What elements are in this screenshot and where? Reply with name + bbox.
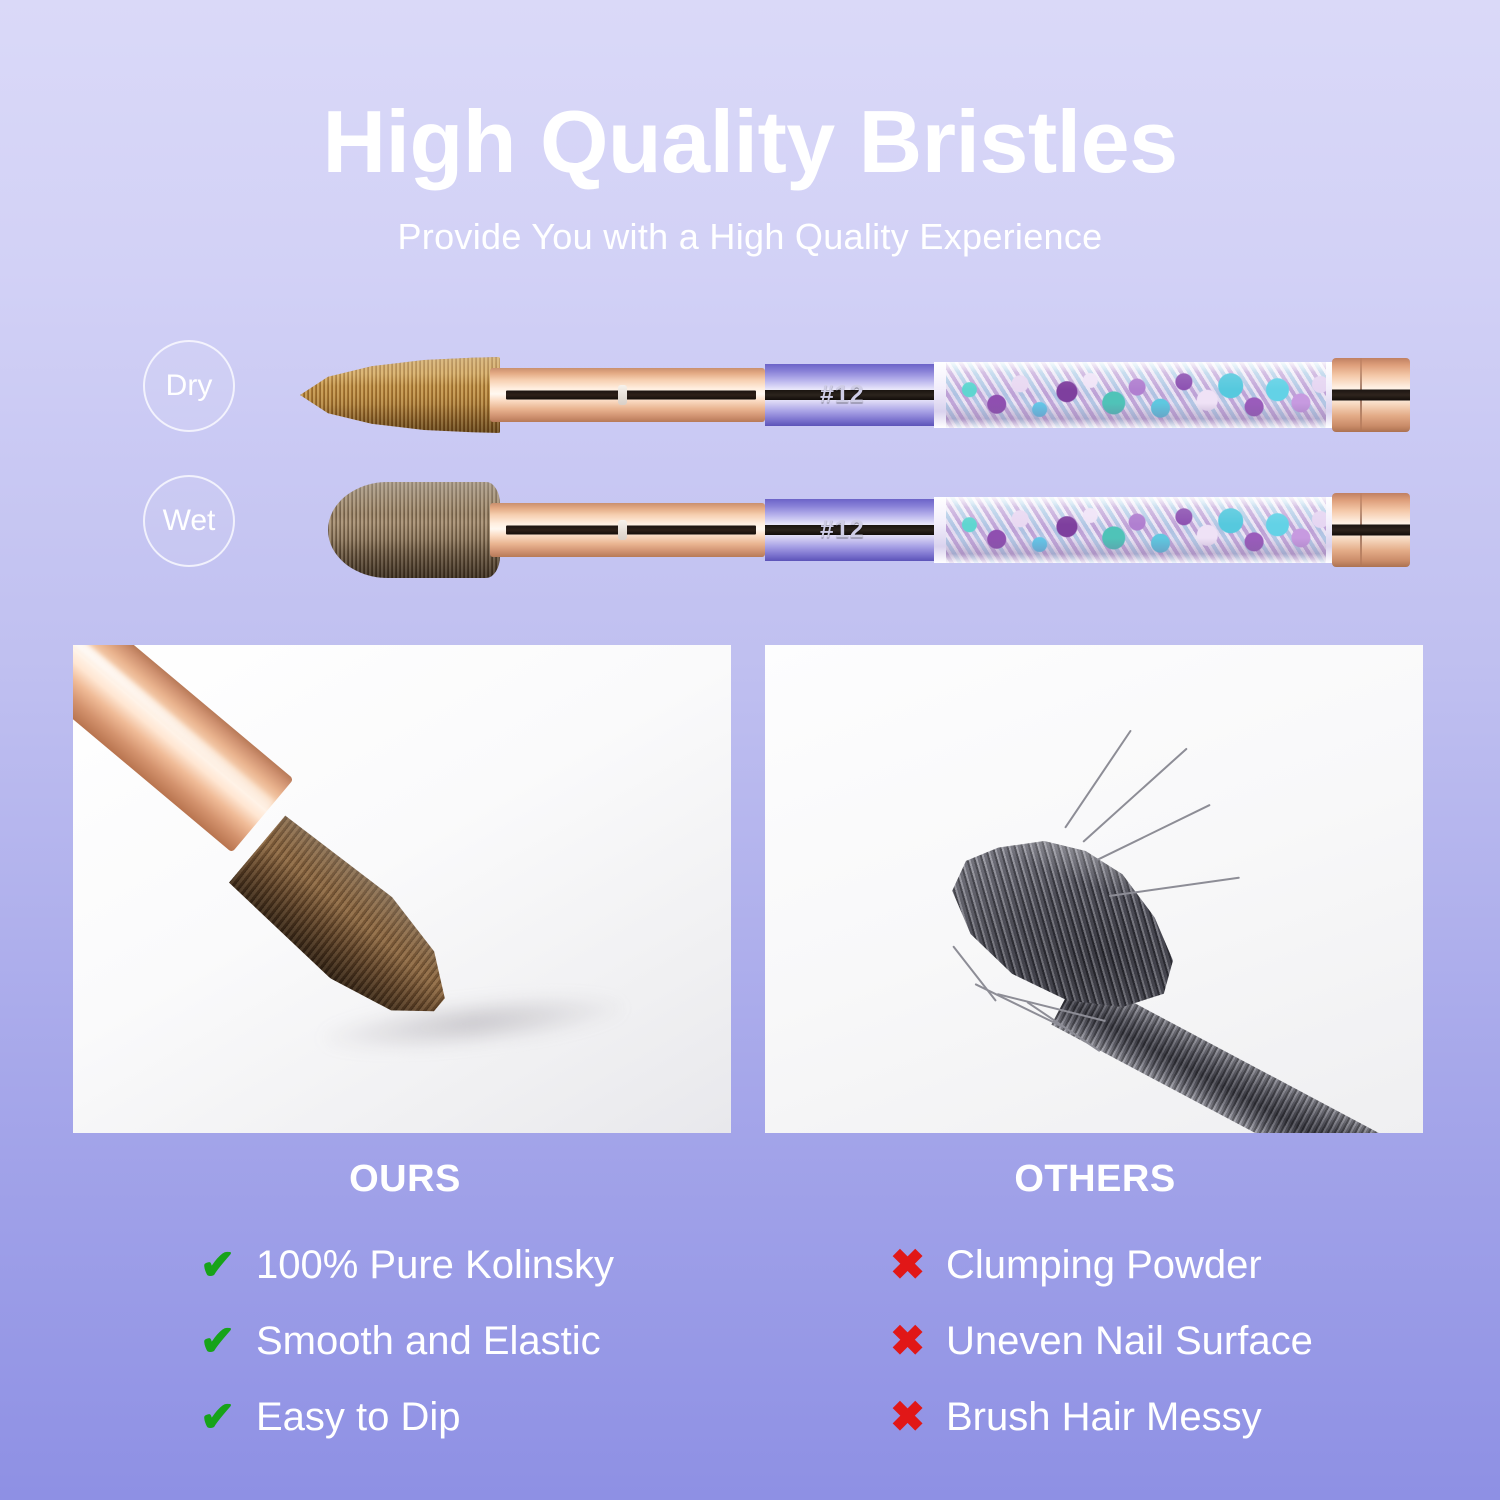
glitter-handle-wet <box>946 497 1336 563</box>
brush-row-wet: Wet #12 <box>0 465 1500 595</box>
brush-wet: #12 <box>300 465 1410 595</box>
list-item: ✔ 100% Pure Kolinsky <box>200 1227 750 1303</box>
list-item-label: Smooth and Elastic <box>256 1319 601 1364</box>
endcap-band-dry <box>1332 390 1410 401</box>
cross-icon: ✖ <box>890 1244 946 1286</box>
bristles-dry-icon <box>300 357 500 433</box>
state-badge-wet: Wet <box>143 475 235 567</box>
list-item-label: Brush Hair Messy <box>946 1395 1262 1440</box>
product-photo-others <box>765 645 1423 1133</box>
check-icon: ✔ <box>200 1320 256 1362</box>
comparison-heading-ours: OURS <box>60 1158 750 1201</box>
barrel-size-marking-dry: #12 <box>820 381 865 410</box>
list-item-label: 100% Pure Kolinsky <box>256 1243 614 1288</box>
brush-row-dry: Dry #12 <box>0 330 1500 460</box>
page-title: High Quality Bristles <box>0 96 1500 188</box>
list-item: ✔ Smooth and Elastic <box>200 1303 750 1379</box>
product-photo-ours <box>73 645 731 1133</box>
endcap-wet <box>1332 493 1410 567</box>
header: High Quality Bristles Provide You with a… <box>0 96 1500 258</box>
barrel-size-marking-wet: #12 <box>820 516 865 545</box>
list-item: ✔ Easy to Dip <box>200 1379 750 1455</box>
comparison-column-others: OTHERS ✖ Clumping Powder ✖ Uneven Nail S… <box>750 1158 1440 1455</box>
state-badge-wet-label: Wet <box>163 504 216 538</box>
list-item: ✖ Brush Hair Messy <box>890 1379 1440 1455</box>
endcap-dry <box>1332 358 1410 432</box>
ferrule-crimp-dry <box>506 391 756 400</box>
glitter-handle-dry <box>946 362 1336 428</box>
list-item-label: Easy to Dip <box>256 1395 461 1440</box>
brush-dry: #12 <box>300 330 1410 460</box>
crimp-notch-wet <box>618 520 627 540</box>
comparison-list-others: ✖ Clumping Powder ✖ Uneven Nail Surface … <box>750 1227 1440 1455</box>
ferrule-crimp-wet <box>506 526 756 535</box>
state-badge-dry: Dry <box>143 340 235 432</box>
check-icon: ✔ <box>200 1396 256 1438</box>
state-badge-dry-label: Dry <box>166 369 213 403</box>
page-subtitle: Provide You with a High Quality Experien… <box>0 216 1500 258</box>
cross-icon: ✖ <box>890 1320 946 1362</box>
check-icon: ✔ <box>200 1244 256 1286</box>
list-item: ✖ Clumping Powder <box>890 1227 1440 1303</box>
crimp-notch-dry <box>618 385 627 405</box>
ferrule-dry <box>490 368 765 422</box>
bristles-wet-icon <box>328 482 500 578</box>
comparison-list-ours: ✔ 100% Pure Kolinsky ✔ Smooth and Elasti… <box>60 1227 750 1455</box>
comparison-column-ours: OURS ✔ 100% Pure Kolinsky ✔ Smooth and E… <box>60 1158 750 1455</box>
comparison-heading-others: OTHERS <box>750 1158 1440 1201</box>
list-item: ✖ Uneven Nail Surface <box>890 1303 1440 1379</box>
cross-icon: ✖ <box>890 1396 946 1438</box>
endcap-band-wet <box>1332 525 1410 536</box>
list-item-label: Clumping Powder <box>946 1243 1262 1288</box>
ferrule-wet <box>490 503 765 557</box>
list-item-label: Uneven Nail Surface <box>946 1319 1313 1364</box>
